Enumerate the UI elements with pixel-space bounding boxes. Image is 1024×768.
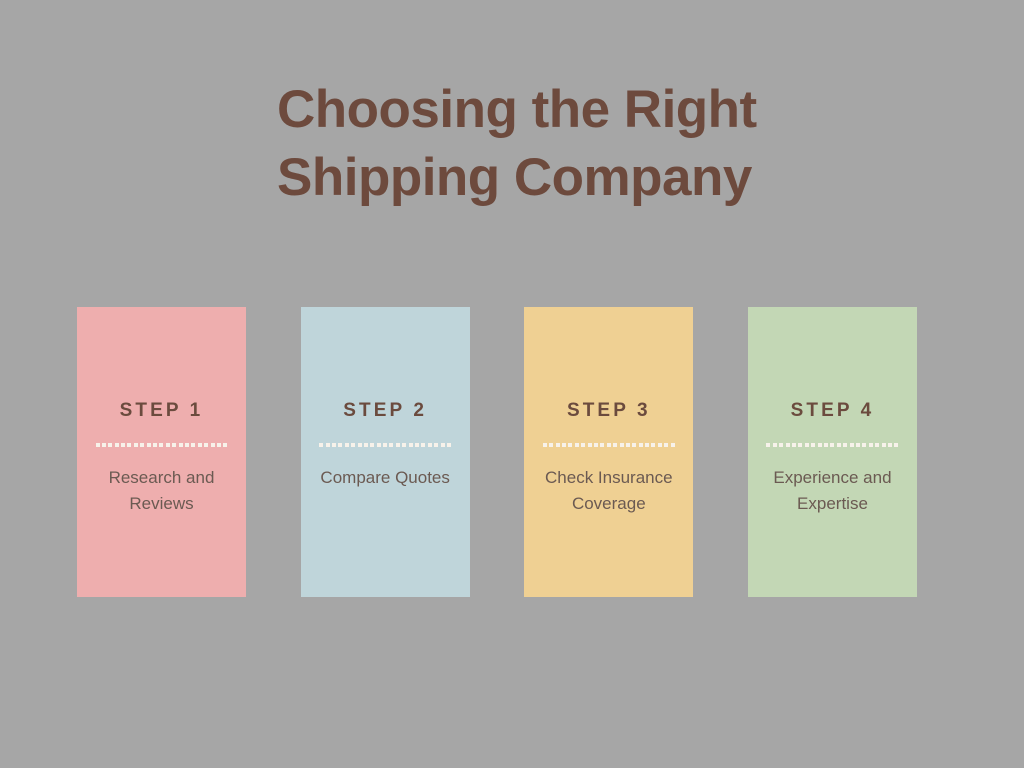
dotted-divider-icon [766,442,898,447]
step-card-2: STEP 2 Compare Quotes [301,307,470,597]
step-card-1-content: STEP 1 Research and Reviews [77,400,246,517]
step-card-4-description: Experience and Expertise [752,465,912,517]
step-card-2-label: STEP 2 [343,400,427,422]
step-card-2-description: Compare Quotes [305,465,465,491]
step-card-1-label: STEP 1 [120,400,204,422]
step-card-4: STEP 4 Experience and Expertise [748,307,917,597]
step-card-2-content: STEP 2 Compare Quotes [301,400,470,491]
step-card-3-label: STEP 3 [567,400,651,422]
step-card-4-label: STEP 4 [791,400,875,422]
step-card-3-description: Check Insurance Coverage [529,465,689,517]
step-card-4-content: STEP 4 Experience and Expertise [748,400,917,517]
steps-card-row: STEP 1 Research and Reviews STEP 2 Compa… [77,307,917,597]
step-card-1: STEP 1 Research and Reviews [77,307,246,597]
step-card-3-content: STEP 3 Check Insurance Coverage [524,400,693,517]
page-title-line-2: Shipping Company [277,144,937,212]
step-card-3: STEP 3 Check Insurance Coverage [524,307,693,597]
page-title: Choosing the Right Shipping Company [277,76,937,212]
dotted-divider-icon [319,442,451,447]
step-card-1-description: Research and Reviews [82,465,242,517]
infographic-slide: Choosing the Right Shipping Company STEP… [0,0,1024,768]
dotted-divider-icon [96,442,228,447]
dotted-divider-icon [543,442,675,447]
page-title-line-1: Choosing the Right [277,76,937,144]
